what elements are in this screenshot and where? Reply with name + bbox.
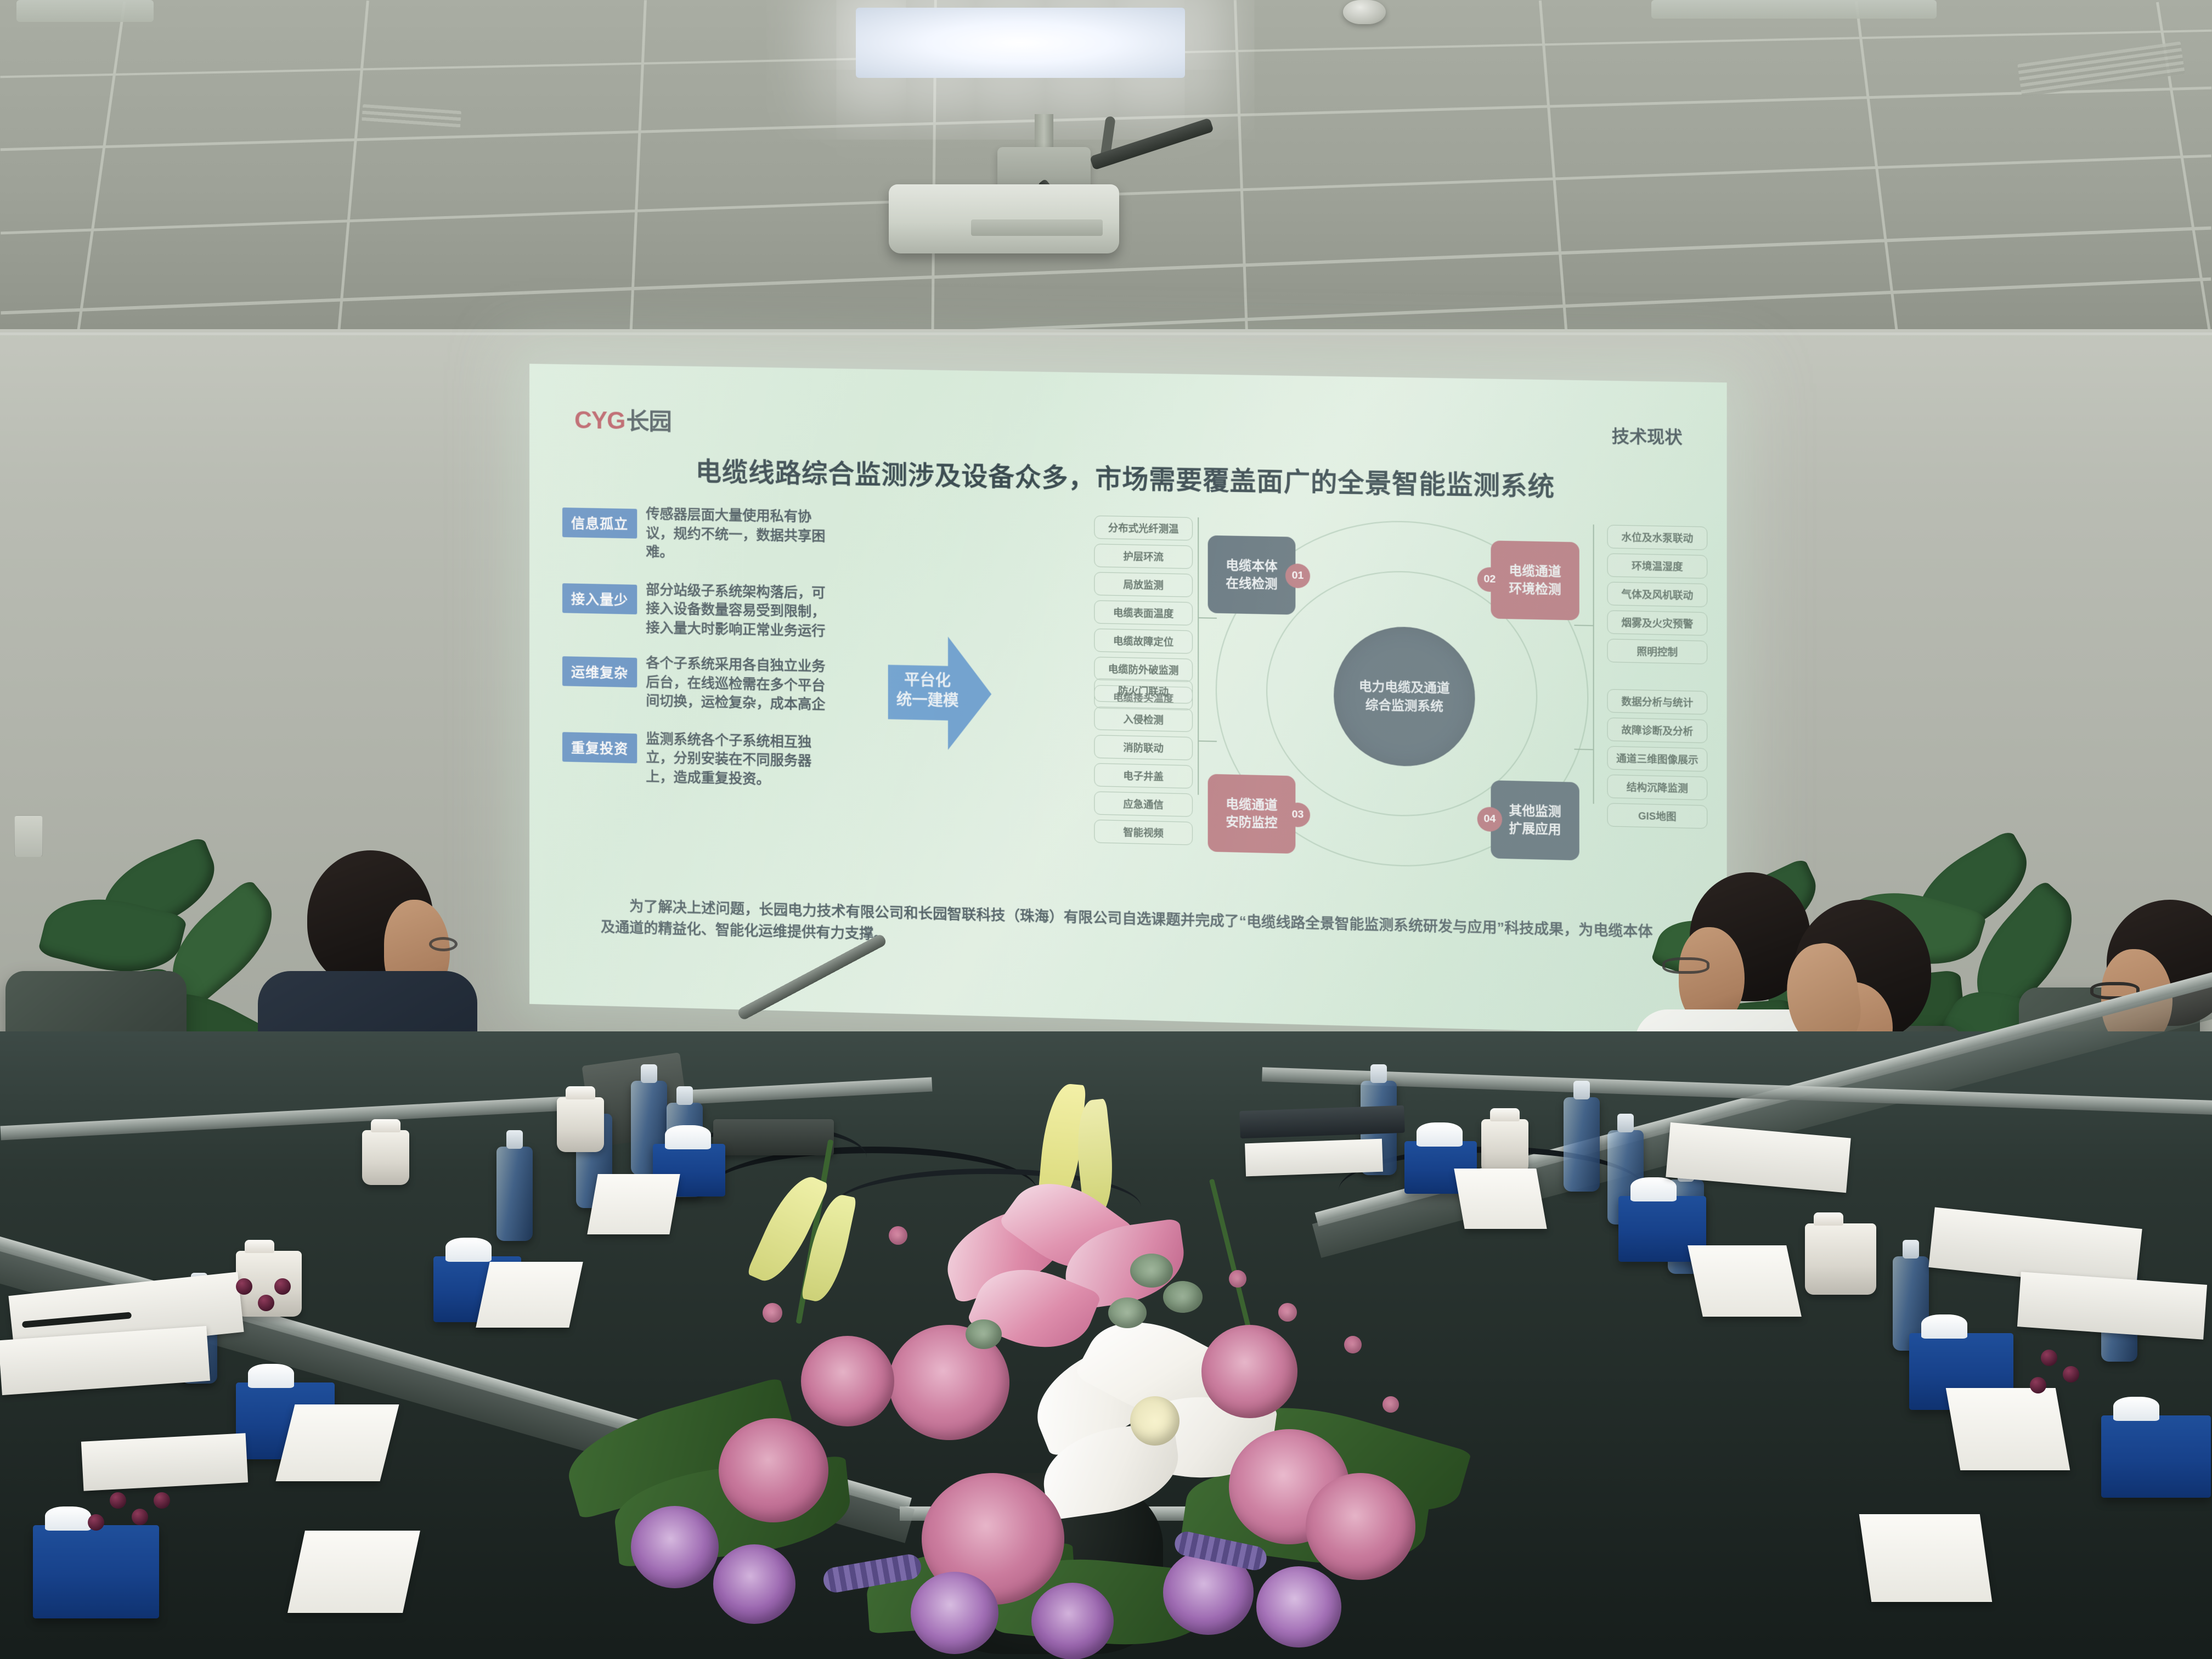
diagram-quadrant-01: 电缆本体 在线检测: [1208, 535, 1296, 615]
tag-item: 通道三维图像展示: [1607, 746, 1708, 772]
quadrant-line1: 其他监测: [1509, 802, 1561, 821]
tag-item: 电缆表面温度: [1094, 600, 1193, 625]
ceiling-light-bright: [856, 8, 1185, 78]
grape: [2063, 1366, 2079, 1383]
flower-bud: [763, 1303, 782, 1323]
quadrant-badge-01: 01: [1285, 563, 1310, 588]
issue-item: 运维复杂 各个子系统采用各自独立业务后台，在线巡检需在多个平台间切换，运检复杂，…: [562, 652, 883, 715]
tag-item: 电子井盖: [1094, 763, 1193, 788]
quadrant-badge-03: 03: [1285, 803, 1310, 828]
platform-arrow: 平台化 统一建模: [888, 635, 992, 751]
orchid-purple: [911, 1572, 998, 1654]
grape: [88, 1514, 104, 1531]
tag-column-extended: 数据分析与统计 故障诊断及分析 通道三维图像展示 结构沉降监测 GIS地图: [1607, 689, 1708, 834]
eucalyptus-leaf: [1163, 1281, 1203, 1313]
eyeglasses-icon: [429, 937, 458, 951]
tea-cup[interactable]: [1805, 1223, 1876, 1295]
grape: [2030, 1377, 2046, 1393]
tissue-box[interactable]: [2101, 1415, 2211, 1498]
tag-item: 消防联动: [1094, 735, 1193, 760]
issue-item: 重复投资 监测系统各个子系统相互独立，分别安装在不同服务器上，造成重复投资。: [562, 727, 883, 792]
diagram-quadrant-04: 其他监测 扩展应用: [1491, 780, 1579, 860]
lily-white-center: [1130, 1396, 1180, 1446]
quadrant-badge-02: 02: [1477, 567, 1502, 592]
logo-latin-text: CYG: [574, 407, 625, 435]
flower-bud: [1278, 1303, 1297, 1322]
arrow-label-line1: 平台化: [891, 670, 964, 691]
grape: [132, 1509, 148, 1525]
quadrant-line2: 扩展应用: [1509, 820, 1561, 838]
name-card: [1859, 1514, 1992, 1602]
tag-item: 智能视频: [1094, 820, 1193, 845]
arrow-label: 平台化 统一建模: [891, 670, 964, 711]
system-diagram: 电力电缆及通道 综合监测系统 电缆本体 在线检测 电缆通道 环境检测: [1203, 513, 1610, 883]
quadrant-line1: 电缆本体: [1226, 557, 1277, 575]
eyeglasses-icon: [1662, 957, 1709, 974]
issues-list: 信息孤立 传感器层面大量使用私有协议，规约不统一，数据共享困难。 接入量少 部分…: [562, 503, 883, 808]
smoke-detector-icon: [1343, 0, 1386, 24]
tag-item: 故障诊断及分析: [1607, 718, 1708, 743]
issue-item: 接入量少 部分站级子系统架构落后，可接入设备数量容易受到限制，接入量大时影响正常…: [562, 579, 883, 642]
quadrant-line1: 电缆通道: [1509, 562, 1561, 581]
name-card: [476, 1262, 583, 1328]
quadrant-line2: 在线检测: [1226, 574, 1277, 593]
connector-rail-left: [1198, 517, 1199, 795]
flower-bud: [1229, 1270, 1246, 1288]
issue-text: 监测系统各个子系统相互独立，分别安装在不同服务器上，造成重复投资。: [646, 729, 828, 790]
slide-title: 电缆线路综合监测涉及设备众多，市场需要覆盖面广的全景智能监测系统: [529, 447, 1727, 506]
grape: [154, 1492, 170, 1509]
issue-text: 各个子系统采用各自独立业务后台，在线巡检需在多个平台间切换，运检复杂，成本高企: [646, 653, 828, 714]
hub-line2: 综合监测系统: [1359, 696, 1450, 716]
flower-bud: [1344, 1336, 1362, 1353]
ceiling: [0, 0, 2212, 340]
arrow-label-line2: 统一建模: [891, 690, 964, 711]
quadrant-line2: 安防监控: [1226, 813, 1277, 832]
eucalyptus-leaf: [1108, 1297, 1147, 1328]
slide: CYG 长园 技术现状 电缆线路综合监测涉及设备众多，市场需要覆盖面广的全景智能…: [529, 364, 1727, 1036]
tag-item: 电缆故障定位: [1094, 629, 1193, 654]
ceiling-light-right: [1651, 0, 1937, 19]
orchid-purple: [1031, 1583, 1114, 1659]
tag-item: 照明控制: [1607, 639, 1708, 664]
issue-tag: 信息孤立: [562, 507, 637, 539]
tag-item: 防火门联动: [1094, 678, 1193, 703]
tag-item: GIS地图: [1607, 803, 1708, 829]
grape: [2041, 1350, 2057, 1366]
water-bottle[interactable]: [496, 1147, 533, 1241]
logo-chinese-text: 长园: [627, 403, 672, 437]
grape: [110, 1492, 126, 1509]
tag-item: 环境温湿度: [1607, 554, 1708, 579]
rose-pink: [719, 1418, 828, 1522]
tissue-box[interactable]: [33, 1525, 159, 1618]
issue-tag: 运维复杂: [562, 656, 637, 687]
issue-text: 传感器层面大量使用私有协议，规约不统一，数据共享困难。: [646, 505, 828, 565]
company-logo: CYG 长园: [574, 402, 672, 437]
flower-bud: [889, 1226, 907, 1245]
quadrant-line2: 环境检测: [1509, 580, 1561, 599]
tag-item: 数据分析与统计: [1607, 689, 1708, 715]
projector: [889, 184, 1119, 253]
issue-tag: 接入量少: [562, 583, 637, 614]
orchid-purple: [1256, 1566, 1341, 1647]
tag-item: 水位及水泵联动: [1607, 525, 1708, 550]
tag-column-security: 防火门联动 入侵检测 消防联动 电子井盖 应急通信 智能视频: [1094, 678, 1193, 850]
document-sheet[interactable]: [81, 1433, 248, 1491]
tag-item: 结构沉降监测: [1607, 775, 1708, 800]
ceiling-light-left: [16, 0, 154, 22]
tag-item: 气体及风机联动: [1607, 582, 1708, 607]
tea-cup[interactable]: [362, 1130, 409, 1185]
diagram-quadrant-02: 电缆通道 环境检测: [1491, 540, 1579, 620]
name-card: [1946, 1388, 2070, 1470]
tag-item: 分布式光纤测温: [1094, 516, 1193, 541]
tag-item: 入侵检测: [1094, 707, 1193, 732]
slide-footer-paragraph: 为了解决上述问题，长园电力技术有限公司和长园智联科技（珠海）有限公司自选课题并完…: [601, 895, 1652, 964]
grape: [274, 1278, 291, 1295]
eucalyptus-leaf: [966, 1319, 1002, 1349]
issue-item: 信息孤立 传感器层面大量使用私有协议，规约不统一，数据共享困难。: [562, 503, 883, 566]
tag-item: 烟雾及火灾预警: [1607, 610, 1708, 635]
name-card: [1688, 1245, 1802, 1317]
issue-text: 部分站级子系统架构落后，可接入设备数量容易受到限制，接入量大时影响正常业务运行: [646, 580, 828, 641]
projection-screen: CYG 长园 技术现状 电缆线路综合监测涉及设备众多，市场需要覆盖面广的全景智能…: [529, 364, 1727, 1036]
tag-column-environment: 水位及水泵联动 环境温湿度 气体及风机联动 烟雾及火灾预警 照明控制: [1607, 525, 1708, 669]
hub-line1: 电力电缆及通道: [1359, 677, 1450, 697]
diagram-quadrant-03: 电缆通道 安防监控: [1208, 774, 1296, 854]
orchid-purple: [713, 1544, 795, 1624]
tag-item: 应急通信: [1094, 791, 1193, 817]
name-card: [287, 1531, 420, 1613]
grape: [236, 1278, 252, 1295]
rose-pink: [801, 1336, 894, 1426]
quadrant-line1: 电缆通道: [1226, 795, 1277, 814]
conference-room-scene: CYG 长园 技术现状 电缆线路综合监测涉及设备众多，市场需要覆盖面广的全景智能…: [0, 0, 2212, 1659]
rose-pink: [1306, 1473, 1415, 1580]
water-bottle[interactable]: [1564, 1097, 1600, 1192]
tag-item: 局放监测: [1094, 572, 1193, 597]
rose-pink: [1201, 1325, 1297, 1418]
tag-item: 护层环流: [1094, 544, 1193, 569]
eucalyptus-leaf: [1130, 1254, 1173, 1288]
quadrant-badge-04: 04: [1477, 807, 1502, 832]
orchid-purple: [631, 1506, 719, 1588]
name-card: [276, 1404, 399, 1481]
flower-bud: [1383, 1396, 1399, 1413]
grape: [258, 1295, 274, 1311]
floral-centerpiece: [582, 1089, 1514, 1659]
issue-tag: 重复投资: [562, 732, 637, 763]
slide-section-label: 技术现状: [1612, 422, 1683, 448]
